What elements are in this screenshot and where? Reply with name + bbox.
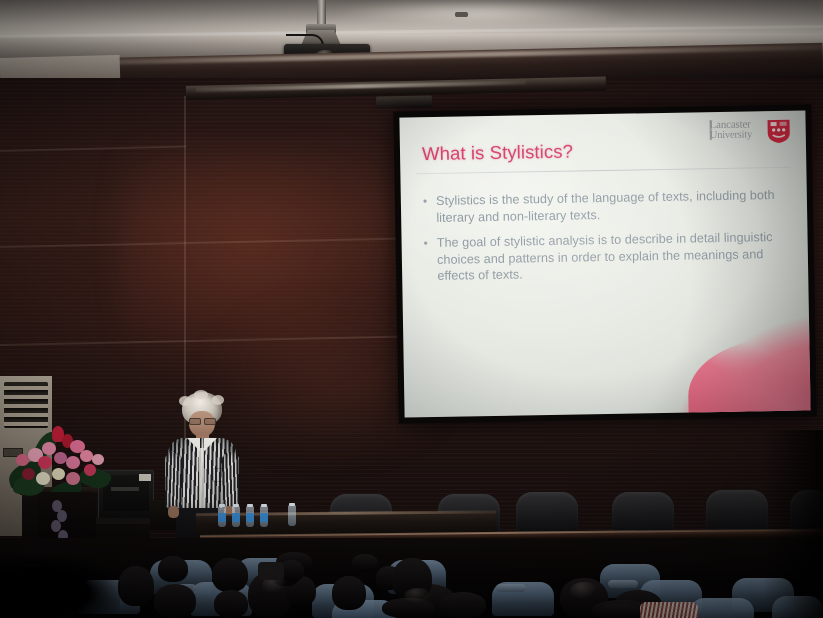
slide-bullet-list: • Stylistics is the study of the languag… [423,187,783,294]
university-crest-icon [765,118,791,144]
bottle-label [218,513,226,522]
presentation-slide: Lancaster University What is Stylistics? [399,110,810,417]
bullet-marker-icon: • [423,193,428,226]
bottle-cap [219,504,225,507]
logo-wordmark: Lancaster University [710,119,768,142]
audience-member [118,566,154,606]
lecture-hall-photo: Lancaster University What is Stylistics? [0,0,823,618]
auditorium-seat [516,492,578,532]
presenter-hand-left [168,506,179,518]
flower-arrangement [8,424,128,502]
monitor-base [96,518,156,524]
logo-line-2: University [710,130,768,142]
audience-member [598,604,642,618]
water-bottle [288,505,296,526]
bottle-cap [233,504,239,507]
presenter-arm-right [222,452,239,510]
monitor-tag [139,474,151,481]
bullet-marker-icon: • [423,235,428,285]
list-item: • Stylistics is the study of the languag… [423,187,782,226]
shirt-placket [199,448,204,510]
bullet-text: Stylistics is the study of the language … [436,187,781,226]
audience-member [154,584,196,618]
auditorium-seat [612,492,674,532]
audience-member [158,556,188,582]
slide-title: What is Stylistics? [422,141,573,166]
list-item: • The goal of stylistic analysis is to d… [423,229,782,285]
audience-camera [258,562,284,580]
seat-armrest [608,580,638,588]
foreground-shadow [0,556,120,618]
screen-motor-housing [376,95,432,108]
auditorium-seat [706,490,768,530]
lancaster-university-logo: Lancaster University [709,117,794,148]
slide-title-divider [416,167,790,175]
right-side-shadow [763,430,823,618]
bottle-cap [247,504,253,507]
ceiling-fixture [455,12,468,17]
presenter-arm-left [165,452,182,510]
seat-armrest [496,584,526,592]
bottle-cap [261,504,267,507]
audience-member [214,590,248,618]
auditorium-seat [690,598,754,618]
bottle-label [232,513,240,522]
bottle-label [260,513,268,522]
audience-striped-shirt [640,602,698,618]
bullet-text: The goal of stylistic analysis is to des… [437,229,783,285]
audience-area [0,538,823,618]
bottle-label [246,513,254,522]
bottle-cap [289,503,295,506]
audience-member [212,558,248,592]
glasses-icon [189,418,215,423]
air-vent-icon [4,382,48,428]
audience-member [352,554,378,572]
ceiling-light-glow [330,0,630,26]
audience-member [332,576,366,610]
projector-mount-pole [317,0,326,26]
projection-screen: Lancaster University What is Stylistics? [393,104,816,423]
audience-member [440,592,486,618]
